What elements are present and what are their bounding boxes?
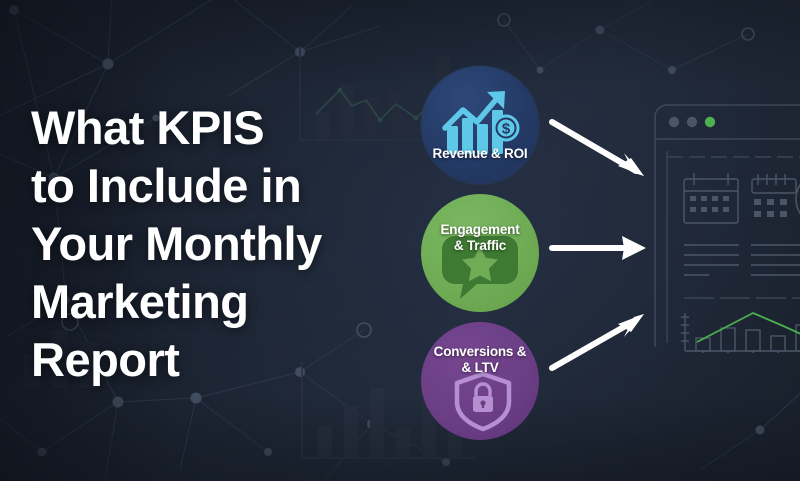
pillar-engagement-label-line-2: & Traffic (421, 238, 539, 254)
headline-line-4: Marketing (31, 273, 411, 331)
text-block-columns (684, 245, 800, 275)
headline-line-5: Report (31, 331, 411, 389)
pillar-conversions-label-line-1: Conversions & (421, 344, 539, 360)
svg-text:$: $ (502, 121, 511, 138)
arrow-up-right (548, 306, 656, 376)
headline-line-3: Your Monthly (31, 215, 411, 273)
pillar-revenue-roi[interactable]: $ Revenue & ROI (421, 66, 539, 184)
pillar-conversions-label: Conversions & & LTV (421, 344, 539, 376)
pillar-revenue-label-line-1: Revenue & ROI (433, 146, 528, 161)
window-dot-active (705, 117, 715, 127)
analytics-dashboard-mockup (641, 95, 800, 353)
pillar-engagement-label: Engagement & Traffic (421, 222, 539, 254)
arrow-right (548, 228, 656, 268)
calendar-widget-dotted (752, 174, 796, 193)
page-title: What KPIS to Include in Your Monthly Mar… (31, 99, 411, 389)
growth-chart-dollar-icon: $ (421, 66, 539, 184)
window-dot-inactive-1 (669, 117, 679, 127)
arrow-down-right (548, 112, 656, 182)
pillar-revenue-label: Revenue & ROI (421, 146, 539, 162)
pillar-engagement-label-line-1: Engagement (421, 222, 539, 238)
pillar-conversions-ltv[interactable]: Conversions & & LTV (421, 322, 539, 440)
headline-line-1: What KPIS (31, 99, 411, 157)
infographic-canvas: What KPIS to Include in Your Monthly Mar… (0, 0, 800, 481)
shield-lock-icon (421, 322, 539, 440)
window-dot-inactive-2 (687, 117, 697, 127)
pillar-engagement-traffic[interactable]: Engagement & Traffic (421, 194, 539, 312)
pillar-conversions-label-line-2: & LTV (421, 360, 539, 376)
headline-line-2: to Include in (31, 157, 411, 215)
